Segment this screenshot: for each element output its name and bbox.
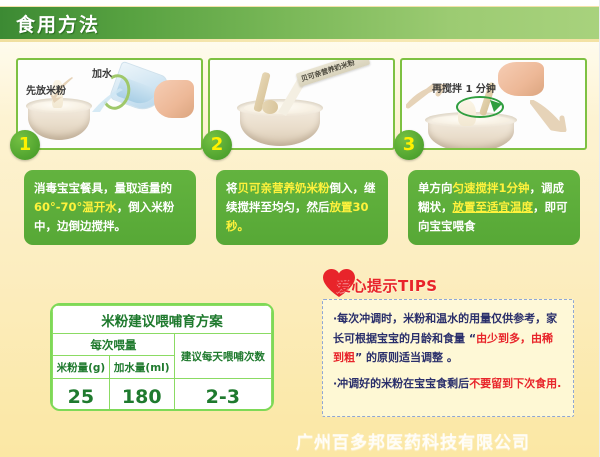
step-3-badge: 3: [394, 130, 424, 160]
step-1-illustration: 先放米粉 加水: [18, 60, 201, 148]
hand-shape: [498, 62, 544, 96]
tip-1-part-1: 不要留到下次食用.: [469, 377, 561, 390]
step-1-text-part-1: 60°-70°温开水: [34, 200, 117, 214]
step-1-label-right: 加水: [92, 65, 112, 80]
water-stream: [90, 86, 124, 114]
steps-row: 先放米粉 加水 1 消毒宝宝餐具，量取适量的60°-70°温开水，倒入米粉中，边…: [0, 58, 600, 248]
table-sub-header-1: 加水量(ml): [109, 356, 174, 379]
page-header: 食用方法: [0, 6, 600, 42]
step-3-text-part-1: 匀速搅拌1分钟: [453, 181, 530, 195]
step-3-photo: 再搅拌 1 分钟: [400, 58, 587, 150]
table-sub-header-0: 米粉量(g): [53, 356, 110, 379]
step-2-badge: 2: [202, 130, 232, 160]
step-3-text: 单方向匀速搅拌1分钟，调成糊状，放置至适宜温度，即可向宝宝喂食: [408, 170, 580, 245]
step-3: 再搅拌 1 分钟 3 单方向匀速搅拌1分钟，调成糊状，放置至适宜温度，即可向宝宝…: [400, 58, 585, 150]
tips-header: 爱心提示TIPS: [322, 268, 580, 298]
tip-1-part-0: ·冲调好的米粉在宝宝食剩后: [333, 377, 469, 390]
table-right-value: 2-3: [174, 379, 271, 412]
feeding-table-grid: 米粉建议喂哺育方案 每次喂量 建议每天喂哺次数 米粉量(g) 加水量(ml) 2…: [52, 305, 272, 411]
step-2-text-part-0: 将: [226, 181, 238, 195]
page-root: 食用方法: [0, 0, 600, 457]
step-1-text-part-0: 消毒宝宝餐具，量取适量的: [34, 181, 172, 195]
tips-section: 爱心提示TIPS ·每次冲调时，米粉和温水的用量仅供参考，家长可根据宝宝的月龄和…: [322, 268, 580, 298]
table-value-1: 180: [109, 379, 174, 412]
table-row: 米粉建议喂哺育方案: [53, 306, 272, 334]
tip-item-1: ·冲调好的米粉在宝宝食剩后不要留到下次食用.: [333, 374, 563, 394]
table-value-0: 25: [53, 379, 110, 412]
tips-box: ·每次冲调时，米粉和温水的用量仅供参考，家长可根据宝宝的月龄和食量 “由少到多，…: [322, 299, 574, 417]
tip-item-0: ·每次冲调时，米粉和温水的用量仅供参考，家长可根据宝宝的月龄和食量 “由少到多，…: [333, 309, 563, 368]
table-row: 25 180 2-3: [53, 379, 272, 412]
tips-title: 爱心提示TIPS: [336, 275, 438, 296]
company-watermark: 广州百多邦医药科技有限公司: [296, 428, 530, 453]
table-group-header: 每次喂量: [53, 334, 175, 356]
page-title: 食用方法: [16, 10, 100, 37]
step-3-illustration: 再搅拌 1 分钟: [402, 60, 585, 148]
step-3-label-top: 再搅拌 1 分钟: [432, 80, 496, 95]
right-arrow-icon: [530, 100, 570, 132]
step-3-text-part-3: 放置至适宜温度: [453, 200, 534, 214]
stir-arrowhead-icon: [488, 98, 504, 114]
table-title: 米粉建议喂哺育方案: [53, 306, 272, 334]
step-1-badge: 1: [10, 130, 40, 160]
step-2: 贝可亲营养奶米粉 2 将贝可亲营养奶米粉倒入，继续搅拌至均匀，然后放置30秒。: [208, 58, 393, 150]
tip-0-part-2: ” 的原则适当调整 。: [355, 351, 458, 364]
hand-shape: [154, 80, 194, 118]
step-1-label-left: 先放米粉: [26, 82, 66, 97]
step-1-text: 消毒宝宝餐具，量取适量的60°-70°温开水，倒入米粉中，边倒边搅拌。: [24, 170, 196, 245]
step-2-text: 将贝可亲营养奶米粉倒入，继续搅拌至均匀，然后放置30秒。: [216, 170, 388, 245]
step-3-text-part-0: 单方向: [418, 181, 453, 195]
step-2-photo: 贝可亲营养奶米粉: [208, 58, 395, 150]
feeding-table: 米粉建议喂哺育方案 每次喂量 建议每天喂哺次数 米粉量(g) 加水量(ml) 2…: [50, 303, 274, 411]
table-right-header: 建议每天喂哺次数: [174, 334, 271, 379]
step-2-illustration: 贝可亲营养奶米粉: [210, 60, 393, 148]
step-2-text-part-1: 贝可亲营养奶米粉: [238, 181, 330, 195]
table-row: 每次喂量 建议每天喂哺次数: [53, 334, 272, 356]
step-1-photo: 先放米粉 加水: [16, 58, 203, 150]
step-1: 先放米粉 加水 1 消毒宝宝餐具，量取适量的60°-70°温开水，倒入米粉中，边…: [16, 58, 201, 150]
